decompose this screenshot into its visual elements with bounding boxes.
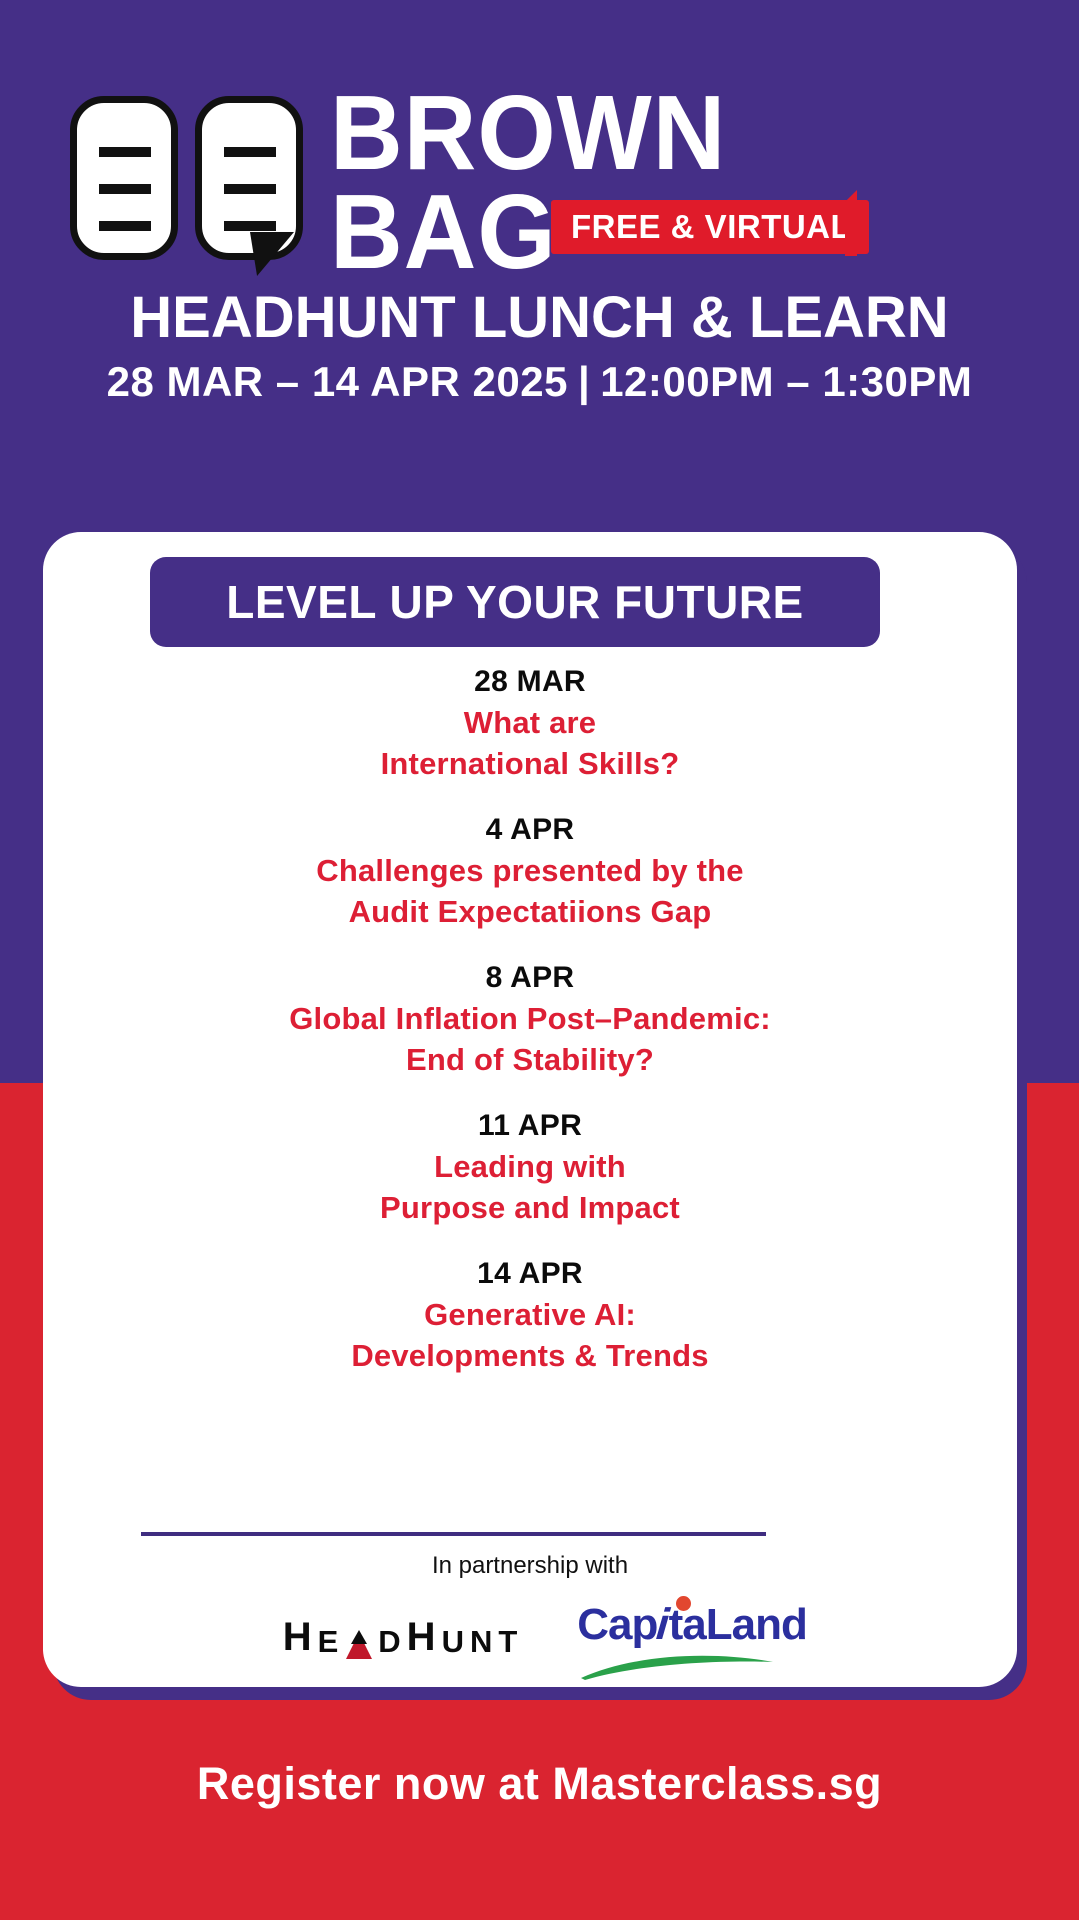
capitaland-text-before: Cap (577, 1600, 657, 1649)
poster: BROWN BAG FREE & VIRTUAL HEADHUNT LUNCH … (0, 0, 1079, 1920)
session-title-line-2: Purpose and Impact (43, 1187, 1017, 1228)
date-time-row: 28 MAR – 14 APR 2025|12:00PM – 1:30PM (0, 358, 1079, 406)
schedule-card: LEVEL UP YOUR FUTURE 28 MAR What are Int… (43, 532, 1017, 1687)
list-item: 11 APR Leading with Purpose and Impact (43, 1106, 1017, 1228)
session-title-line-1: Global Inflation Post–Pandemic: (43, 998, 1017, 1039)
level-up-ribbon: LEVEL UP YOUR FUTURE (150, 557, 880, 647)
list-item: 4 APR Challenges presented by the Audit … (43, 810, 1017, 932)
session-title: Generative AI: Developments & Trends (43, 1294, 1017, 1376)
session-date: 28 MAR (43, 662, 1017, 702)
session-date: 11 APR (43, 1106, 1017, 1146)
session-title-line-2: End of Stability? (43, 1039, 1017, 1080)
ribbon-label: LEVEL UP YOUR FUTURE (226, 575, 803, 629)
headhunt-letter-h1: H (283, 1615, 318, 1660)
speech-bubbles-icon (70, 96, 320, 266)
capitaland-logo: CapitaLand (577, 1594, 777, 1680)
register-cta: Register now at Masterclass.sg (0, 1758, 1079, 1810)
headhunt-letter-h2: H (407, 1615, 442, 1660)
date-time-separator: | (568, 358, 600, 406)
badge-label: FREE & VIRTUAL (571, 208, 851, 246)
date-range: 28 MAR – 14 APR 2025 (107, 358, 568, 405)
session-title: Challenges presented by the Audit Expect… (43, 850, 1017, 932)
session-title: What are International Skills? (43, 702, 1017, 784)
session-date: 8 APR (43, 958, 1017, 998)
list-item: 14 APR Generative AI: Developments & Tre… (43, 1254, 1017, 1376)
partner-logos: HE DHUNT CapitaLand (43, 1594, 1017, 1680)
session-title: Global Inflation Post–Pandemic: End of S… (43, 998, 1017, 1080)
headhunt-logo: HE DHUNT (283, 1615, 524, 1660)
session-title-line-1: Challenges presented by the (43, 850, 1017, 891)
session-title-line-1: What are (43, 702, 1017, 743)
session-list: 28 MAR What are International Skills? 4 … (43, 662, 1017, 1402)
headhunt-letter-e: E (318, 1624, 345, 1660)
session-title-line-1: Generative AI: (43, 1294, 1017, 1335)
session-title-line-2: International Skills? (43, 743, 1017, 784)
wordmark-line-1: BROWN (330, 84, 726, 183)
session-date: 14 APR (43, 1254, 1017, 1294)
masthead: BROWN BAG FREE & VIRTUAL HEADHUNT LUNCH … (0, 0, 1079, 520)
capitaland-swoosh-icon (579, 1650, 775, 1680)
partnership-label: In partnership with (43, 1552, 1017, 1580)
session-title-line-2: Developments & Trends (43, 1335, 1017, 1376)
session-title-line-2: Audit Expectatiions Gap (43, 891, 1017, 932)
list-item: 8 APR Global Inflation Post–Pandemic: En… (43, 958, 1017, 1080)
headhunt-letter-d: D (378, 1624, 406, 1660)
speech-bubble-left (70, 96, 178, 260)
event-subtitle: HEADHUNT LUNCH & LEARN (0, 284, 1079, 351)
time-range: 12:00PM – 1:30PM (600, 358, 972, 405)
session-title-line-1: Leading with (43, 1146, 1017, 1187)
headhunt-letters-unt: UNT (442, 1624, 524, 1660)
divider (141, 1532, 766, 1536)
free-virtual-badge: FREE & VIRTUAL (551, 200, 869, 254)
list-item: 28 MAR What are International Skills? (43, 662, 1017, 784)
session-title: Leading with Purpose and Impact (43, 1146, 1017, 1228)
session-date: 4 APR (43, 810, 1017, 850)
